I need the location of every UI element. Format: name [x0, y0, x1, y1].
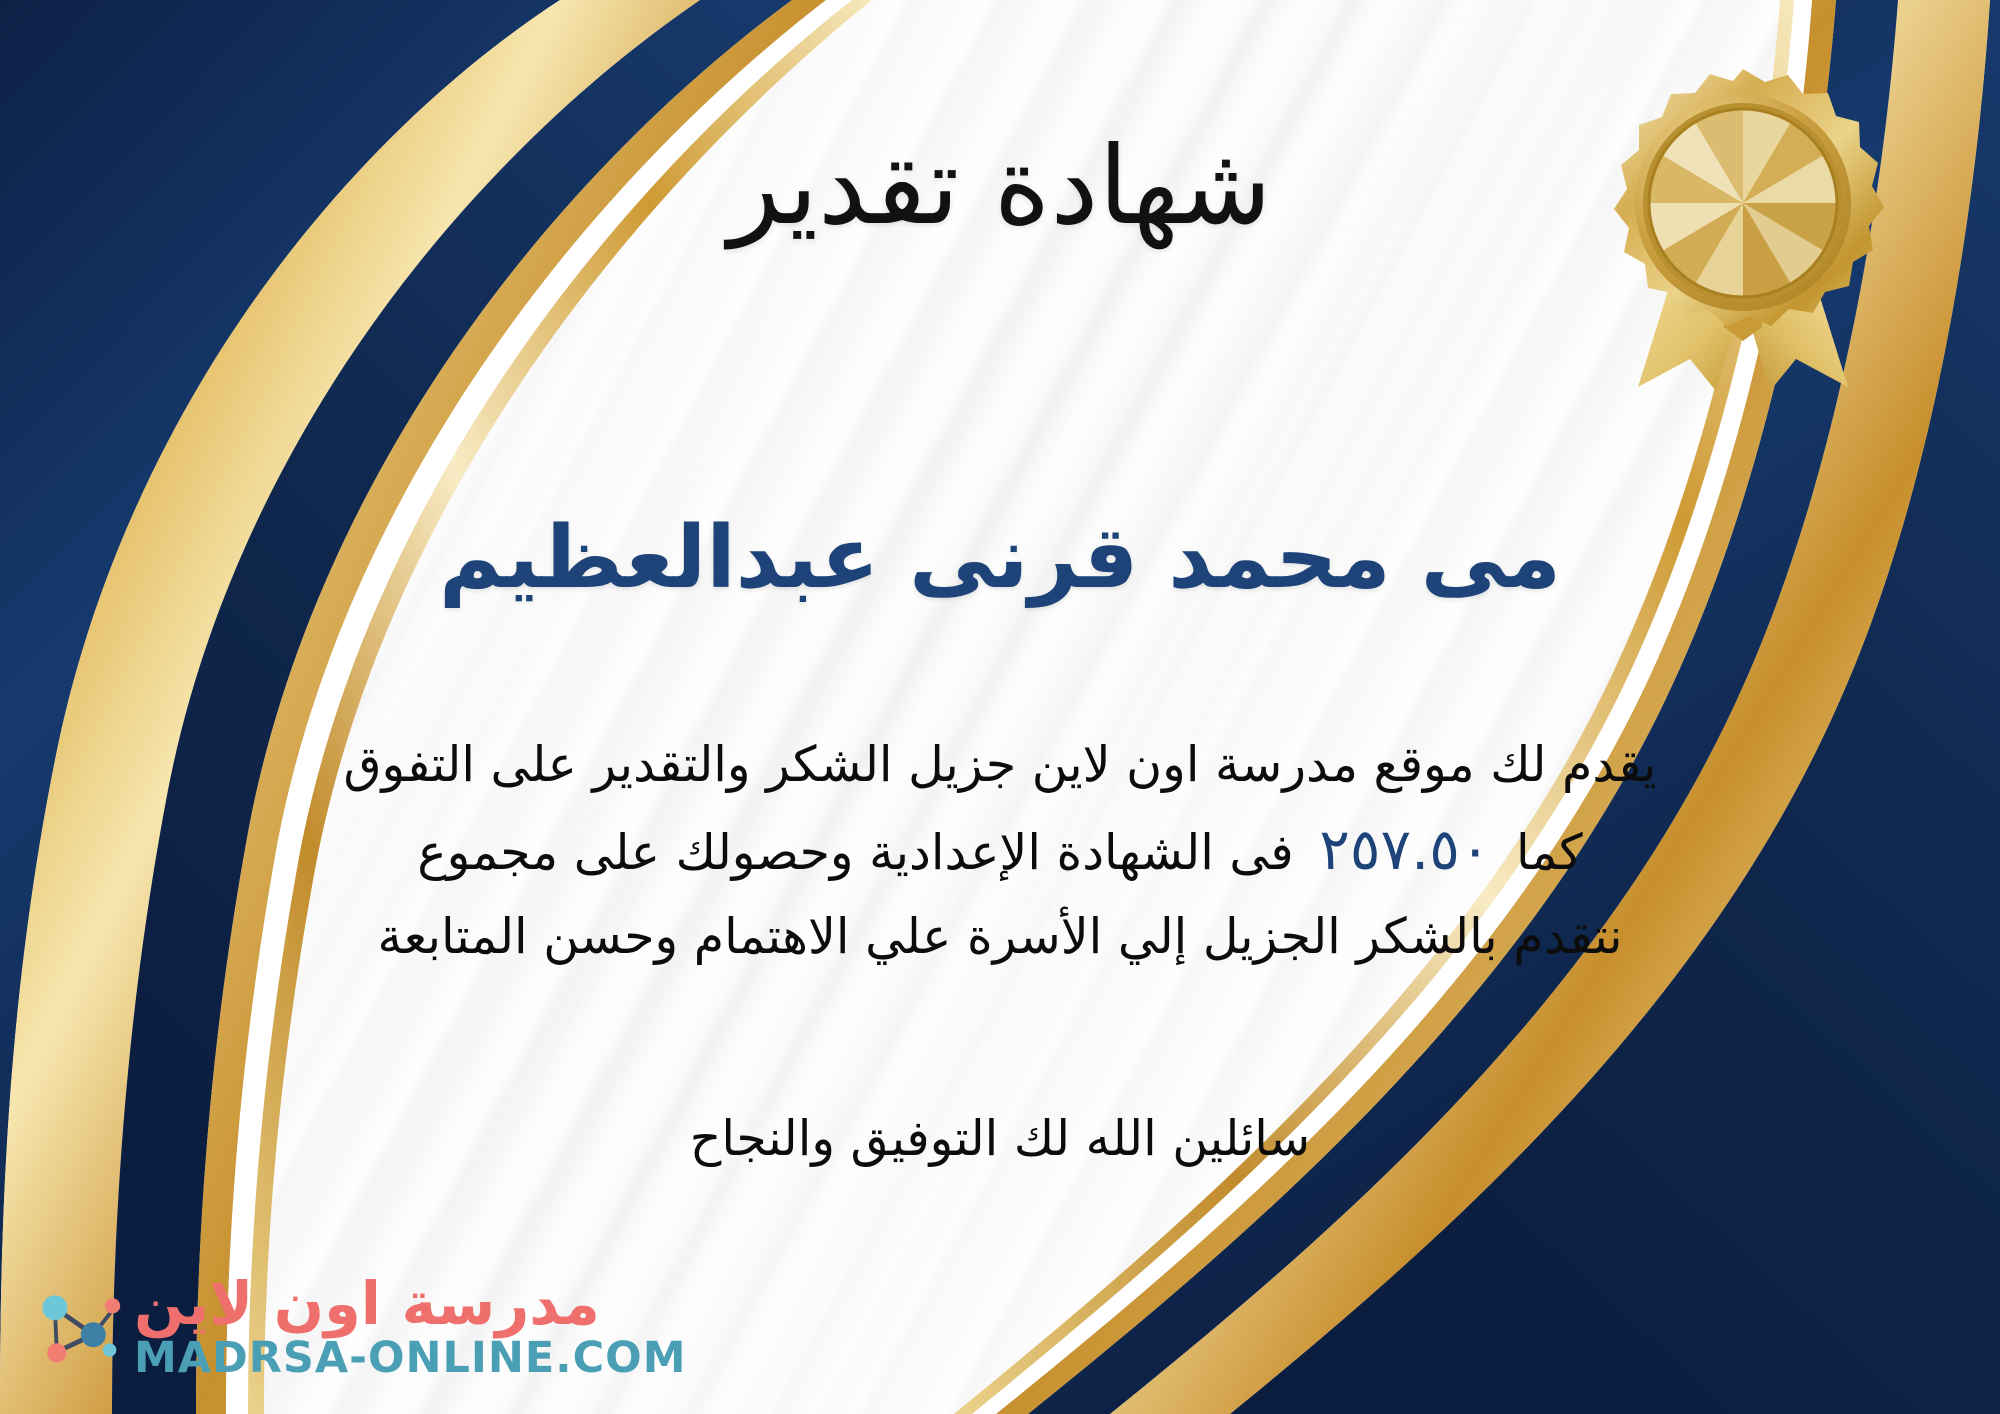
- logo-arabic-text: مدرسة اون لاين: [134, 1274, 600, 1333]
- recipient-name: مى محمد قرنى عبدالعظيم: [0, 510, 2000, 606]
- score-value: ٢٥٧.٥٠: [1309, 817, 1500, 883]
- closing-line: سائلين الله لك التوفيق والنجاح: [0, 1110, 2000, 1167]
- body-line-2-suffix: كما: [1516, 824, 1583, 881]
- network-nodes-icon: [28, 1279, 124, 1375]
- body-line-2: كما ٢٥٧.٥٠ فى الشهادة الإعدادية وحصولك ع…: [60, 804, 1940, 896]
- body-line-1: يقدم لك موقع مدرسة اون لاين جزيل الشكر و…: [60, 725, 1940, 804]
- body-line-3: نتقدم بالشكر الجزيل إلي الأسرة علي الاهت…: [60, 897, 1940, 976]
- logo-text-group: مدرسة اون لاين MADRSA-ONLINE.COM: [134, 1274, 687, 1380]
- body-line-2-prefix: فى الشهادة الإعدادية وحصولك على مجموع: [417, 824, 1293, 881]
- logo-website-url: MADRSA-ONLINE.COM: [134, 1337, 687, 1380]
- certificate-body: يقدم لك موقع مدرسة اون لاين جزيل الشكر و…: [60, 725, 1940, 976]
- certificate-canvas: شهادة تقدير مى محمد قرنى عبدالعظيم يقدم …: [0, 0, 2000, 1414]
- site-logo[interactable]: مدرسة اون لاين MADRSA-ONLINE.COM: [28, 1274, 687, 1380]
- gold-award-medal: [1598, 55, 1888, 395]
